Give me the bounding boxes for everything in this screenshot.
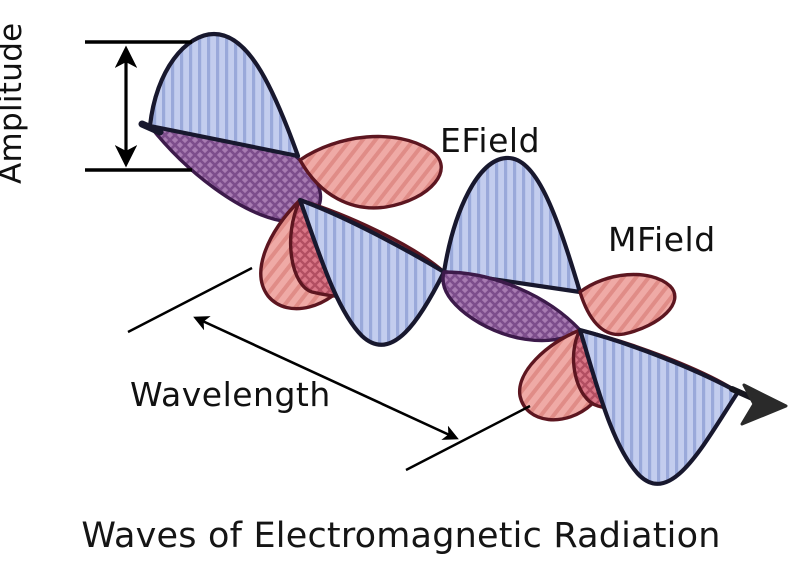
- wavelength-tick-left: [128, 268, 252, 332]
- figure-canvas: EField MField Wavelength Amplitude Waves…: [0, 0, 802, 568]
- m-field-lobe-3-tip: [580, 275, 675, 335]
- label-wavelength: Wavelength: [130, 378, 331, 411]
- wavelength-tick-right: [406, 406, 530, 470]
- label-mfield: MField: [608, 223, 716, 256]
- propagation-arrowhead-icon: [742, 385, 786, 424]
- label-amplitude: Amplitude: [0, 34, 27, 184]
- label-efield: EField: [440, 124, 540, 157]
- em-wave-diagram: [0, 0, 802, 568]
- figure-caption: Waves of Electromagnetic Radiation: [0, 516, 802, 556]
